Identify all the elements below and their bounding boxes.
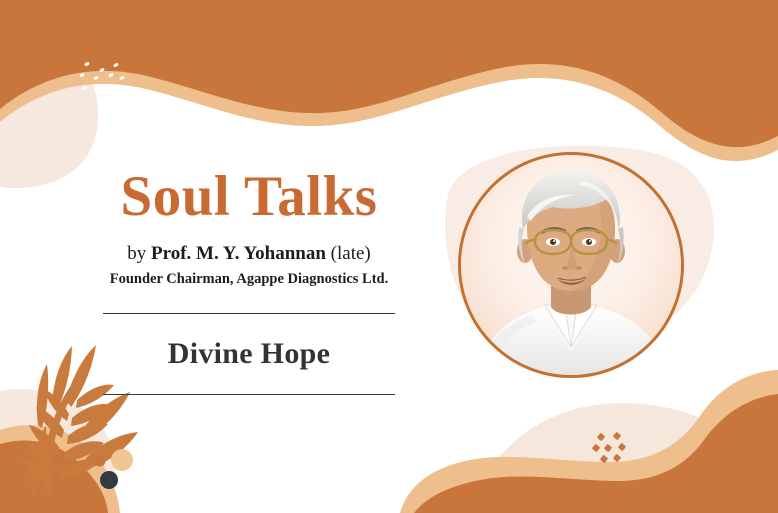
scattered-orange-diamonds [592,432,634,468]
circle-large-tan [111,449,133,471]
avatar [458,152,684,378]
topic-wrapper: Divine Hope [98,314,400,394]
byline: by Prof. M. Y. Yohannan (late) [98,243,400,265]
byline-suffix: (late) [326,243,371,264]
topic-title: Divine Hope [168,337,330,371]
byline-prefix: by [127,243,151,264]
portrait-illustration [461,155,681,375]
decorative-circles [90,448,142,492]
text-block: Soul Talks by Prof. M. Y. Yohannan (late… [98,168,400,395]
byline-name: Prof. M. Y. Yohannan [151,243,326,264]
circle-small-orange [95,456,106,467]
author-role: Founder Chairman, Agappe Diagnostics Ltd… [98,271,400,288]
page-title: Soul Talks [98,168,400,225]
divider-bottom [103,394,395,395]
circle-dark [100,471,118,489]
scattered-white-dots [78,58,130,96]
poster-canvas: Soul Talks by Prof. M. Y. Yohannan (late… [0,0,778,513]
